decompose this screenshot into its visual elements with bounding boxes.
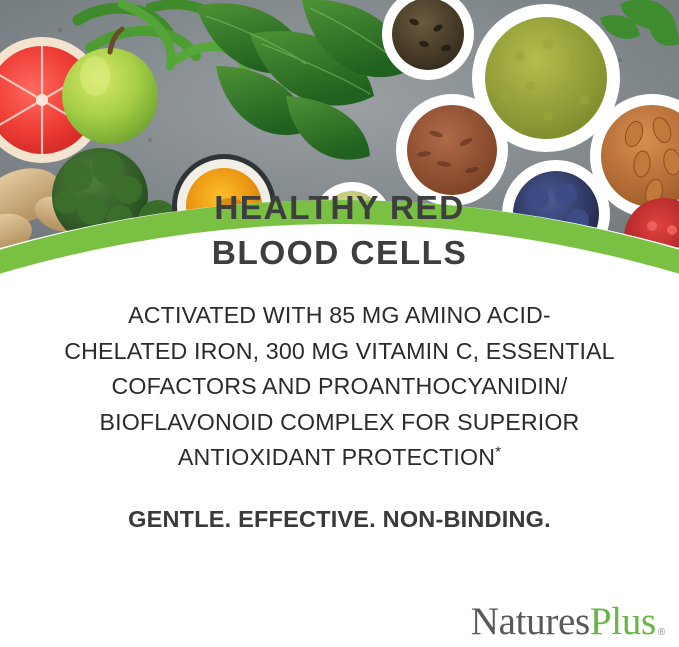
registered-trademark-icon: ® <box>658 628 665 638</box>
logo-text-plus: Plus <box>590 602 656 641</box>
subhead-line-3: COFACTORS AND PROANTHOCYANIDIN/ <box>22 369 657 405</box>
subhead-line-2: CHELATED IRON, 300 MG VITAMIN C, ESSENTI… <box>22 334 657 370</box>
headline-line-2: BLOOD CELLS <box>40 231 639 276</box>
logo-text-natures: Natures <box>471 602 590 641</box>
text-content-block: HEALTHY RED BLOOD CELLS ACTIVATED WITH 8… <box>0 186 679 534</box>
naturesplus-logo: NaturesPlus® <box>471 602 665 641</box>
product-marketing-panel: HEALTHY RED BLOOD CELLS ACTIVATED WITH 8… <box>0 0 679 647</box>
subhead-line-4: BIOFLAVONOID COMPLEX FOR SUPERIOR <box>22 405 657 441</box>
subhead-line-5-text: ANTIOXIDANT PROTECTION <box>178 444 495 470</box>
tagline: GENTLE. EFFECTIVE. NON-BINDING. <box>0 504 679 534</box>
footnote-asterisk: * <box>495 443 501 460</box>
product-description: ACTIVATED WITH 85 MG AMINO ACID- CHELATE… <box>0 298 679 476</box>
subhead-line-5: ANTIOXIDANT PROTECTION* <box>22 440 657 476</box>
headline-line-1: HEALTHY RED <box>40 186 639 231</box>
page-title: HEALTHY RED BLOOD CELLS <box>0 186 679 276</box>
subhead-line-1: ACTIVATED WITH 85 MG AMINO ACID- <box>22 298 657 334</box>
